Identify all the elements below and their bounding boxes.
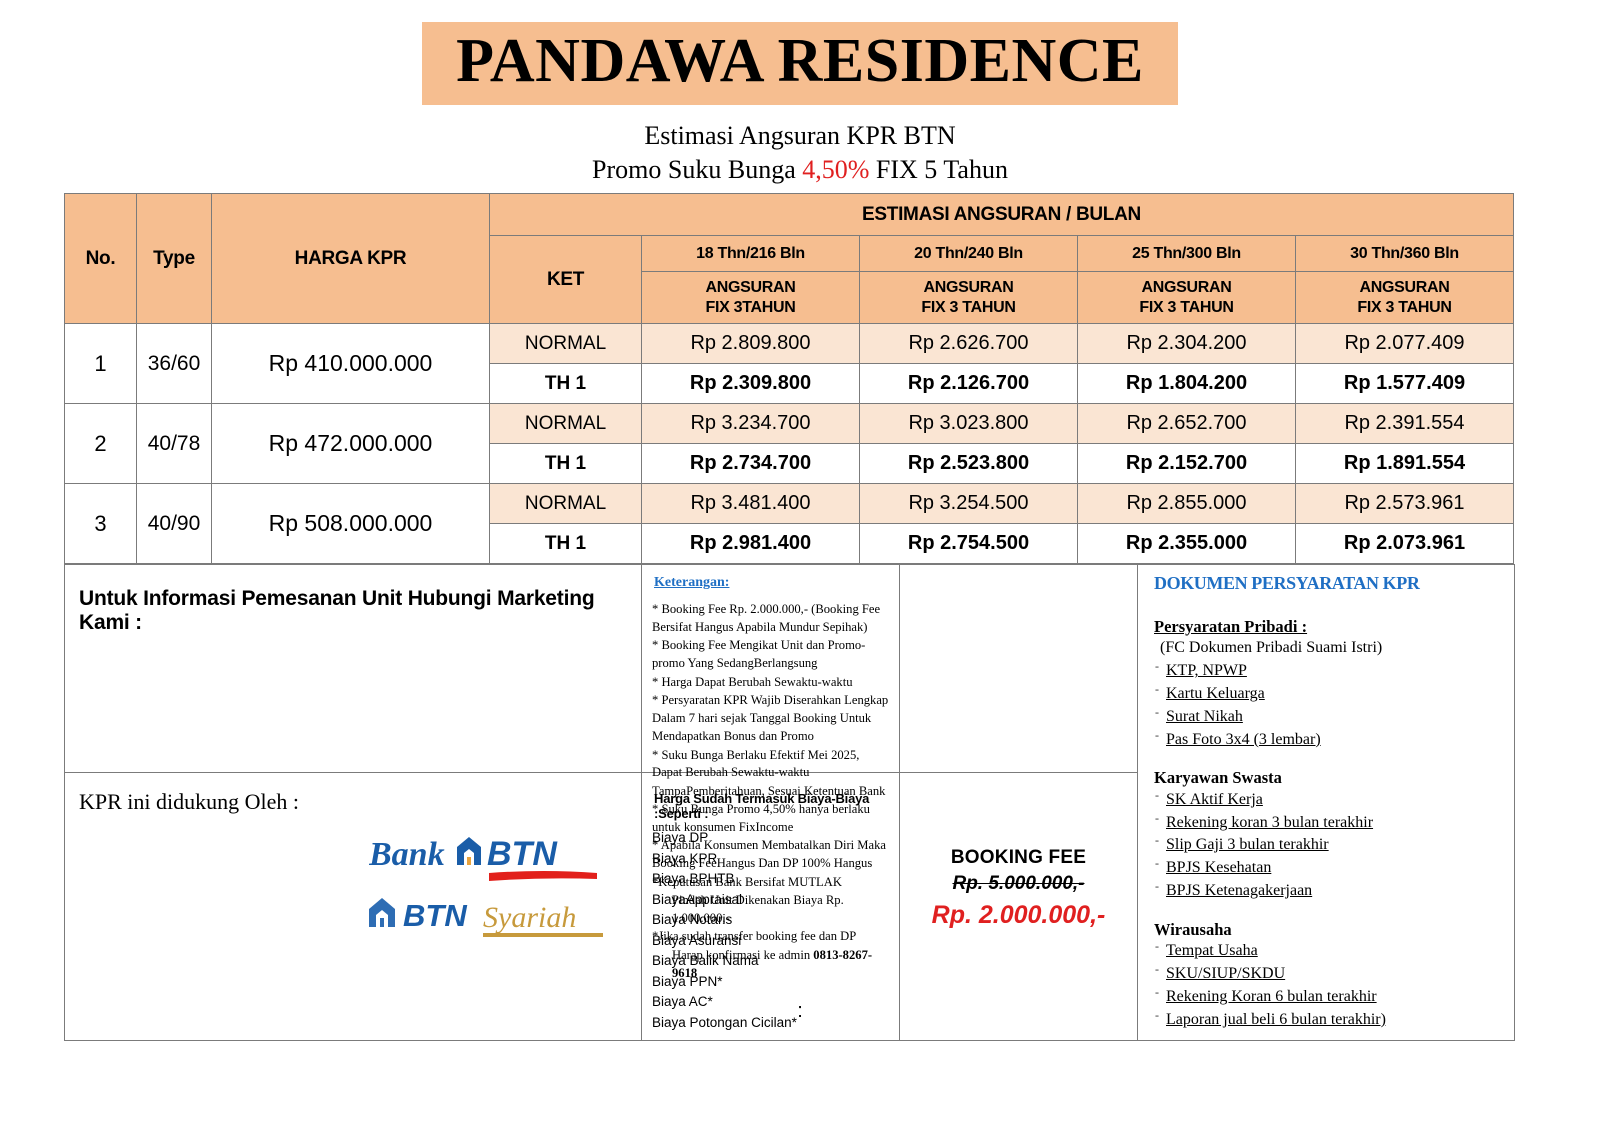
th-sub-30-line1: ANGSURAN <box>1296 278 1513 298</box>
cell-2-th1-30: Rp 1.891.554 <box>1296 444 1514 484</box>
subtitle-promo-suffix: FIX 5 Tahun <box>869 155 1008 184</box>
karyawan-item: Slip Gaji 3 bulan terakhir <box>1166 836 1329 853</box>
cell-ket-th1-3: TH 1 <box>490 524 642 564</box>
marketing-cell: Untuk Informasi Pemesanan Unit Hubungi M… <box>65 565 642 1041</box>
th-sub-18: ANGSURAN FIX 3TAHUN <box>642 272 860 324</box>
th-sub-18-line2: FIX 3TAHUN <box>642 298 859 318</box>
th-tenor-25: 25 Thn/300 Bln <box>1078 236 1296 272</box>
table-body: 1 36/60 Rp 410.000.000 NORMAL Rp 2.809.8… <box>65 324 1514 564</box>
subtitle-line-1: Estimasi Angsuran KPR BTN <box>0 119 1600 153</box>
th-tenor-20: 20 Thn/240 Bln <box>860 236 1078 272</box>
subtitle-promo-prefix: Promo Suku Bunga <box>592 155 802 184</box>
karyawan-item: SK Aktif Kerja <box>1166 791 1263 808</box>
karyawan-item: Rekening koran 3 bulan terakhir <box>1166 814 1373 831</box>
cell-1-th1-20: Rp 2.126.700 <box>860 364 1078 404</box>
karyawan-swasta-list: SK Aktif Kerja Rekening koran 3 bulan te… <box>1154 790 1506 902</box>
cell-2-normal-25: Rp 2.652.700 <box>1078 404 1296 444</box>
dokumen-title: DOKUMEN PERSYARATAN KPR <box>1154 573 1506 594</box>
table-row: 1 36/60 Rp 410.000.000 NORMAL Rp 2.809.8… <box>65 324 1514 364</box>
marketing-contact-label: Untuk Informasi Pemesanan Unit Hubungi M… <box>75 565 631 635</box>
cell-3-normal-20: Rp 3.254.500 <box>860 484 1078 524</box>
wirausaha-item: SKU/SIUP/SKDU <box>1166 965 1285 982</box>
booking-fee-title: BOOKING FEE <box>900 847 1137 869</box>
cell-3-th1-18: Rp 2.981.400 <box>642 524 860 564</box>
keterangan-item: * Booking Fee Mengikat Unit dan Promo-pr… <box>652 637 891 673</box>
svg-text:Bank: Bank <box>369 836 445 873</box>
cell-harga-2: Rp 472.000.000 <box>212 404 490 484</box>
svg-text:BTN: BTN <box>403 898 467 933</box>
cell-type-3: 40/90 <box>137 484 212 564</box>
dokumen-body: Persyaratan Pribadi : (FC Dokumen Pribad… <box>1146 616 1506 1030</box>
keterangan-item: Mendapatkan Bonus dan Promo <box>652 728 891 746</box>
pribadi-item: Pas Foto 3x4 (3 lembar) <box>1166 731 1321 748</box>
btn-syariah-logo: BTN Syariah <box>365 893 615 946</box>
th-group-estimasi: ESTIMASI ANGSURAN / BULAN <box>490 194 1514 236</box>
flyer-page: PANDAWA RESIDENCE Estimasi Angsuran KPR … <box>0 0 1600 1130</box>
th-tenor-18: 18 Thn/216 Bln <box>642 236 860 272</box>
cell-3-normal-18: Rp 3.481.400 <box>642 484 860 524</box>
installment-table-wrapper: No. Type HARGA KPR ESTIMASI ANGSURAN / B… <box>64 193 1514 1041</box>
page-title: PANDAWA RESIDENCE <box>422 22 1178 105</box>
pribadi-item: Kartu Keluarga <box>1166 685 1265 702</box>
cell-2-th1-25: Rp 2.152.700 <box>1078 444 1296 484</box>
th-sub-25-line1: ANGSURAN <box>1078 278 1295 298</box>
cell-1-normal-25: Rp 2.304.200 <box>1078 324 1296 364</box>
info-table: Untuk Informasi Pemesanan Unit Hubungi M… <box>64 564 1515 1041</box>
footer-colon: : <box>0 1000 1600 1023</box>
th-sub-30: ANGSURAN FIX 3 TAHUN <box>1296 272 1514 324</box>
booking-fee-new-price: Rp. 2.000.000,- <box>900 901 1137 930</box>
table-head: No. Type HARGA KPR ESTIMASI ANGSURAN / B… <box>65 194 1514 324</box>
cell-2-normal-18: Rp 3.234.700 <box>642 404 860 444</box>
wirausaha-item: Tempat Usaha <box>1166 942 1258 959</box>
karyawan-item: BPJS Ketenagakerjaan <box>1166 882 1312 899</box>
cell-no-1: 1 <box>65 324 137 404</box>
th-tenor-30: 30 Thn/360 Bln <box>1296 236 1514 272</box>
cell-2-th1-20: Rp 2.523.800 <box>860 444 1078 484</box>
cell-3-normal-25: Rp 2.855.000 <box>1078 484 1296 524</box>
cell-1-th1-18: Rp 2.309.800 <box>642 364 860 404</box>
cell-type-1: 36/60 <box>137 324 212 404</box>
subtitle-line-2: Promo Suku Bunga 4,50% FIX 5 Tahun <box>0 153 1600 187</box>
th-type: Type <box>137 194 212 324</box>
cell-type-2: 40/78 <box>137 404 212 484</box>
keterangan-item: * Booking Fee Rp. 2.000.000,- (Booking F… <box>652 601 891 637</box>
house-icon <box>369 898 395 927</box>
booking-fee-old-price: Rp. 5.000.000,- <box>900 873 1137 895</box>
bank-btn-logo-svg: Bank BTN <box>369 831 609 889</box>
biaya-item: Biaya PPN* <box>652 972 891 993</box>
cell-ket-normal-3: NORMAL <box>490 484 642 524</box>
cell-ket-normal-1: NORMAL <box>490 324 642 364</box>
keterangan-cell: Keterangan: * Booking Fee Rp. 2.000.000,… <box>642 565 900 1041</box>
svg-text:BTN: BTN <box>487 835 558 873</box>
pribadi-item: Surat Nikah <box>1166 708 1243 725</box>
pribadi-item: KTP, NPWP <box>1166 662 1247 679</box>
cell-ket-normal-2: NORMAL <box>490 404 642 444</box>
cell-1-normal-30: Rp 2.077.409 <box>1296 324 1514 364</box>
th-harga-kpr: HARGA KPR <box>212 194 490 324</box>
cell-2-th1-18: Rp 2.734.700 <box>642 444 860 484</box>
th-sub-30-line2: FIX 3 TAHUN <box>1296 298 1513 318</box>
cell-2-normal-30: Rp 2.391.554 <box>1296 404 1514 444</box>
th-sub-25-line2: FIX 3 TAHUN <box>1078 298 1295 318</box>
cell-harga-3: Rp 508.000.000 <box>212 484 490 564</box>
header-title-area: PANDAWA RESIDENCE <box>0 0 1600 105</box>
booking-fee-box: BOOKING FEE Rp. 5.000.000,- Rp. 2.000.00… <box>900 773 1137 930</box>
svg-text:Syariah: Syariah <box>483 901 576 934</box>
supported-by-label: KPR ini didukung Oleh : <box>75 773 631 815</box>
cell-1-th1-30: Rp 1.577.409 <box>1296 364 1514 404</box>
bank-logos: Bank BTN <box>75 821 631 953</box>
installment-table: No. Type HARGA KPR ESTIMASI ANGSURAN / B… <box>64 193 1514 564</box>
cell-1-normal-20: Rp 2.626.700 <box>860 324 1078 364</box>
karyawan-swasta-heading: Karyawan Swasta <box>1154 767 1506 788</box>
keterangan-title: Keterangan: <box>654 575 891 591</box>
booking-fee-cell: BOOKING FEE Rp. 5.000.000,- Rp. 2.000.00… <box>900 565 1138 1041</box>
cell-harga-1: Rp 410.000.000 <box>212 324 490 404</box>
interest-rate-value: 4,50% <box>802 155 869 184</box>
th-sub-18-line1: ANGSURAN <box>642 278 859 298</box>
cell-3-th1-20: Rp 2.754.500 <box>860 524 1078 564</box>
th-sub-20: ANGSURAN FIX 3 TAHUN <box>860 272 1078 324</box>
persyaratan-pribadi-heading: Persyaratan Pribadi : <box>1154 616 1506 637</box>
cell-ket-th1-2: TH 1 <box>490 444 642 484</box>
dokumen-cell: DOKUMEN PERSYARATAN KPR Persyaratan Prib… <box>1138 565 1515 1041</box>
wirausaha-heading: Wirausaha <box>1154 919 1506 940</box>
th-sub-20-line1: ANGSURAN <box>860 278 1077 298</box>
th-sub-25: ANGSURAN FIX 3 TAHUN <box>1078 272 1296 324</box>
house-icon <box>457 837 481 865</box>
karyawan-item: BPJS Kesehatan <box>1166 859 1271 876</box>
cell-ket-th1-1: TH 1 <box>490 364 642 404</box>
cell-3-normal-30: Rp 2.573.961 <box>1296 484 1514 524</box>
table-row: 3 40/90 Rp 508.000.000 NORMAL Rp 3.481.4… <box>65 484 1514 524</box>
persyaratan-pribadi-note: (FC Dokumen Pribadi Suami Istri) <box>1160 638 1506 659</box>
keterangan-item: * Harga Dapat Berubah Sewaktu-waktu <box>652 674 891 692</box>
btn-syariah-logo-svg: BTN Syariah <box>365 893 615 941</box>
th-ket: KET <box>490 236 642 324</box>
th-sub-20-line2: FIX 3 TAHUN <box>860 298 1077 318</box>
cell-1-normal-18: Rp 2.809.800 <box>642 324 860 364</box>
cell-3-th1-30: Rp 2.073.961 <box>1296 524 1514 564</box>
th-no: No. <box>65 194 137 324</box>
cell-3-th1-25: Rp 2.355.000 <box>1078 524 1296 564</box>
keterangan-item: * Persyaratan KPR Wajib Diserahkan Lengk… <box>652 692 891 728</box>
persyaratan-pribadi-list: KTP, NPWP Kartu Keluarga Surat Nikah Pas… <box>1154 661 1506 750</box>
cell-1-th1-25: Rp 1.804.200 <box>1078 364 1296 404</box>
table-row: 2 40/78 Rp 472.000.000 NORMAL Rp 3.234.7… <box>65 404 1514 444</box>
cell-no-3: 3 <box>65 484 137 564</box>
bank-btn-logo: Bank BTN <box>369 831 609 894</box>
cell-2-normal-20: Rp 3.023.800 <box>860 404 1078 444</box>
cell-no-2: 2 <box>65 404 137 484</box>
